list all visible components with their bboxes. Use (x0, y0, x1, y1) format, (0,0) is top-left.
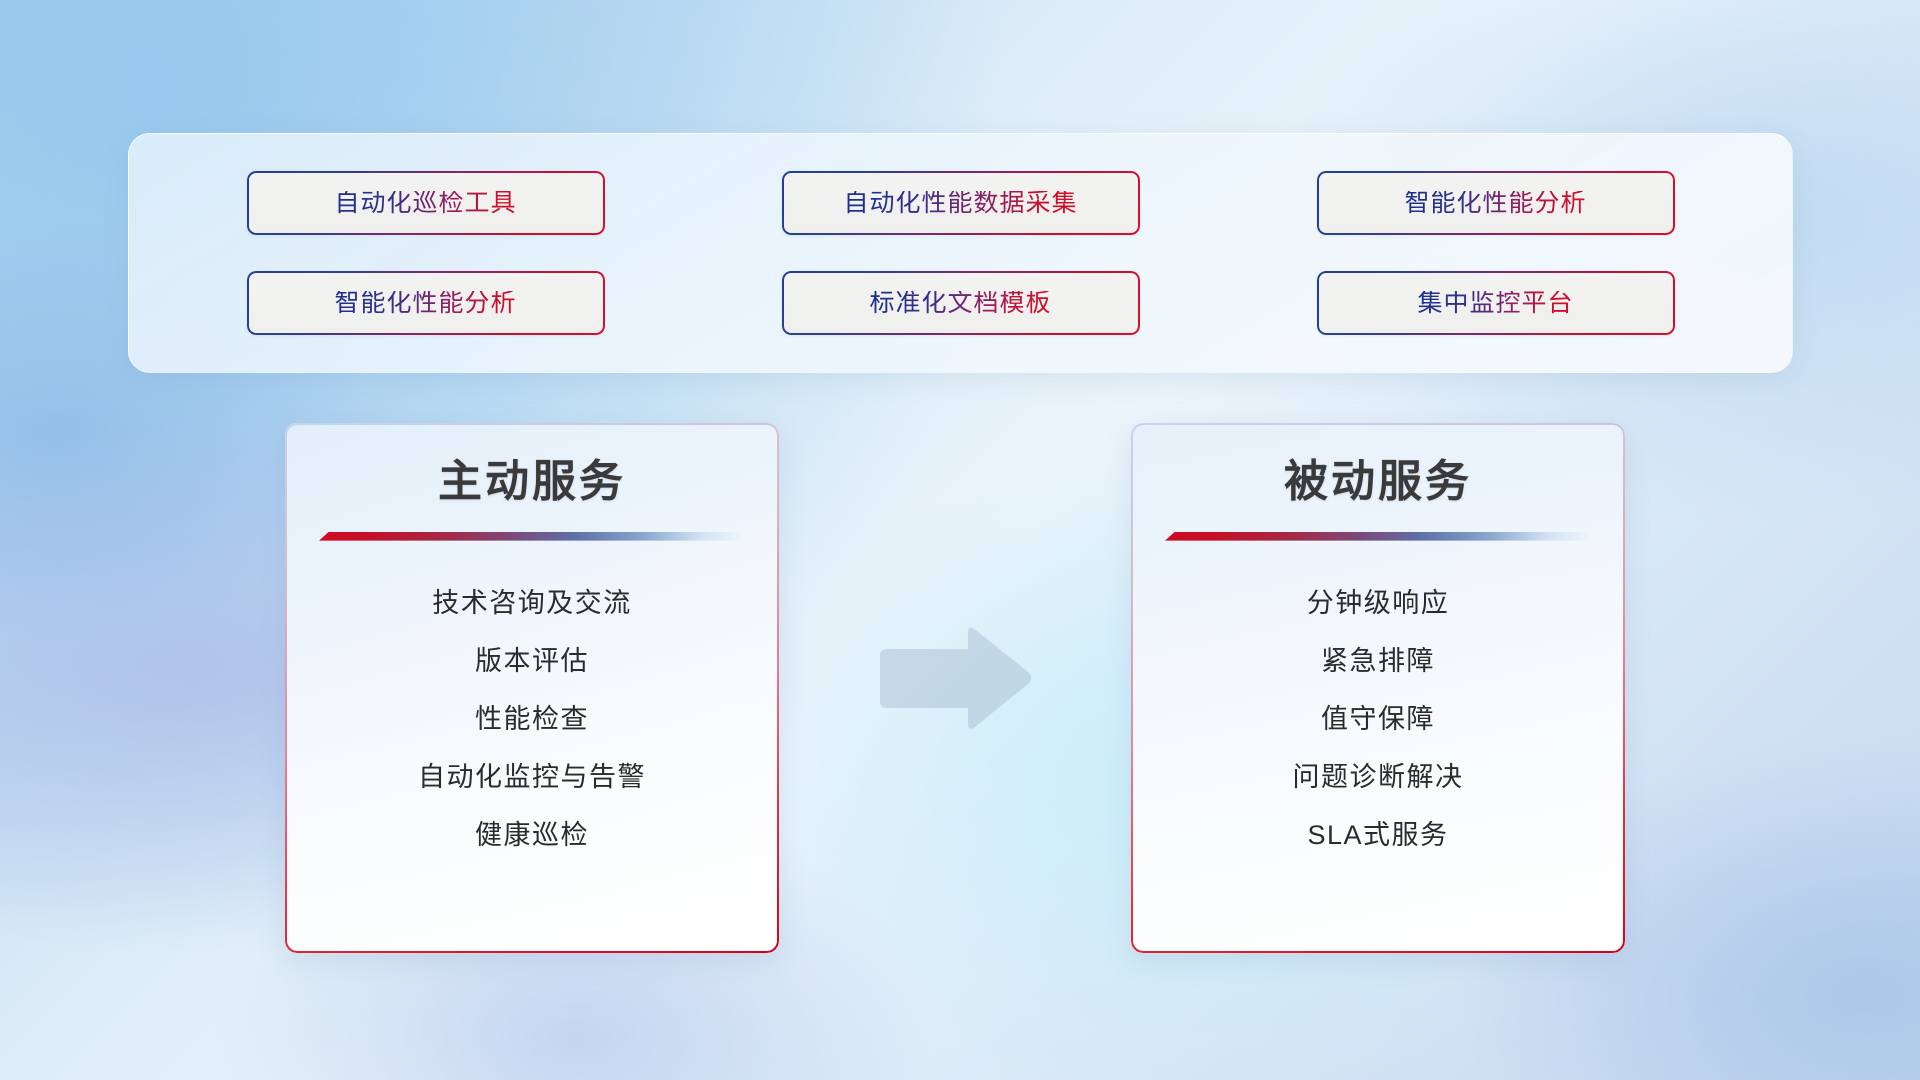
capability-tag-3[interactable]: 智能化性能分析 (1317, 171, 1675, 235)
tag-cell: 集中监控平台 (1267, 262, 1724, 344)
card-inner: 主动服务 技术咨询及交流 版本评估 性能检查 自动化监控与告警 健康巡检 (285, 423, 779, 953)
arrow-right-icon (876, 624, 1034, 734)
capability-tag-5[interactable]: 标准化文档模板 (782, 271, 1140, 335)
capability-tag-label: 智能化性能分析 (334, 291, 516, 316)
capability-tag-label: 自动化性能数据采集 (843, 191, 1077, 216)
card-inner: 被动服务 分钟级响应 紧急排障 值守保障 问题诊断解决 SLA式服务 (1131, 423, 1625, 953)
service-item[interactable]: 值守保障 (1321, 691, 1435, 749)
capability-tag-2[interactable]: 自动化性能数据采集 (782, 171, 1140, 235)
service-item[interactable]: 版本评估 (475, 633, 589, 691)
card-divider (319, 532, 745, 541)
capability-tag-6[interactable]: 集中监控平台 (1317, 271, 1675, 335)
capability-tag-4[interactable]: 智能化性能分析 (247, 271, 605, 335)
service-item-list: 技术咨询及交流 版本评估 性能检查 自动化监控与告警 健康巡检 (315, 575, 749, 865)
slide-canvas: 自动化巡检工具 自动化性能数据采集 智能化性能分析 智能化性能分析 标准化文档模… (0, 0, 1920, 1080)
service-item[interactable]: 紧急排障 (1321, 633, 1435, 691)
service-item[interactable]: 健康巡检 (475, 807, 589, 865)
capability-tag-label: 集中监控平台 (1417, 291, 1573, 316)
card-title: 被动服务 (1284, 457, 1472, 508)
service-item[interactable]: SLA式服务 (1307, 807, 1448, 865)
tag-cell: 智能化性能分析 (197, 262, 654, 344)
capability-tag-label: 自动化巡检工具 (334, 191, 516, 216)
capability-tag-label: 智能化性能分析 (1404, 191, 1586, 216)
service-card-passive[interactable]: 被动服务 分钟级响应 紧急排障 值守保障 问题诊断解决 SLA式服务 (1131, 423, 1625, 953)
service-item-list: 分钟级响应 紧急排障 值守保障 问题诊断解决 SLA式服务 (1161, 575, 1595, 865)
service-item[interactable]: 技术咨询及交流 (432, 575, 632, 633)
service-item[interactable]: 分钟级响应 (1307, 575, 1450, 633)
capability-tag-1[interactable]: 自动化巡检工具 (247, 171, 605, 235)
card-title: 主动服务 (438, 457, 626, 508)
card-divider (1165, 532, 1591, 541)
service-item[interactable]: 性能检查 (475, 691, 589, 749)
tag-cell: 智能化性能分析 (1267, 162, 1724, 244)
tag-cell: 自动化巡检工具 (197, 162, 654, 244)
capability-tag-label: 标准化文档模板 (869, 291, 1051, 316)
tag-cell: 标准化文档模板 (732, 262, 1189, 344)
capability-tags-panel: 自动化巡检工具 自动化性能数据采集 智能化性能分析 智能化性能分析 标准化文档模… (128, 133, 1793, 373)
service-card-active[interactable]: 主动服务 技术咨询及交流 版本评估 性能检查 自动化监控与告警 健康巡检 (285, 423, 779, 953)
tag-cell: 自动化性能数据采集 (732, 162, 1189, 244)
service-item[interactable]: 自动化监控与告警 (418, 749, 646, 807)
service-item[interactable]: 问题诊断解决 (1293, 749, 1464, 807)
